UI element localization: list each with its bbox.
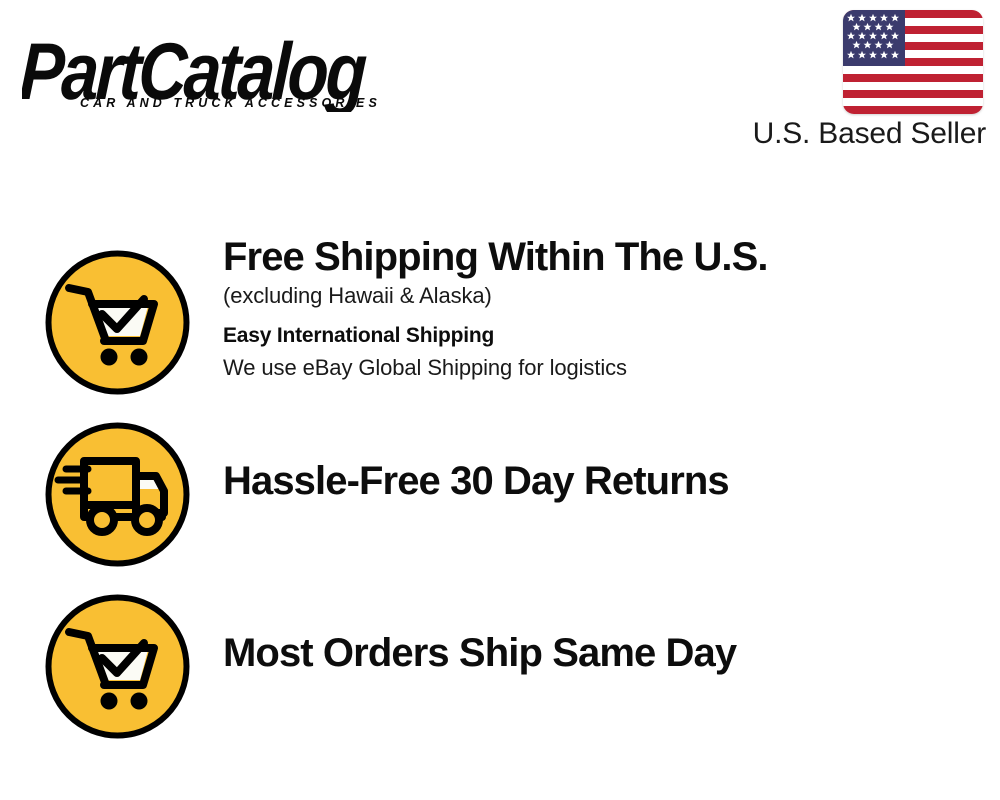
feature-headline: Free Shipping Within The U.S. — [223, 234, 983, 280]
feature-subhead: Easy International Shipping — [223, 320, 983, 352]
feature-row: Most Orders Ship Same Day — [0, 574, 1000, 746]
brand-tagline: CAR AND TRUCK ACCESSORIES — [80, 96, 381, 110]
us-flag-icon — [843, 10, 983, 114]
feature-row: Hassle-Free 30 Day Returns — [0, 402, 1000, 574]
us-based-seller-label: U.S. Based Seller — [753, 117, 986, 151]
shopping-cart-check-icon — [44, 593, 191, 740]
shopping-cart-check-icon — [44, 249, 191, 396]
feature-headline: Hassle-Free 30 Day Returns — [223, 458, 983, 504]
feature-subline-2: We use eBay Global Shipping for logistic… — [223, 352, 983, 384]
delivery-truck-icon — [44, 421, 191, 568]
brand-logo[interactable]: PartCatalog CAR AND TRUCK ACCESSORIES — [22, 22, 492, 112]
feature-subline: (excluding Hawaii & Alaska) — [223, 280, 983, 312]
page-header: PartCatalog CAR AND TRUCK ACCESSORIES — [0, 0, 1000, 170]
feature-text: Most Orders Ship Same Day — [223, 630, 983, 676]
feature-text: Free Shipping Within The U.S. (excluding… — [223, 234, 983, 384]
feature-row: Free Shipping Within The U.S. (excluding… — [0, 230, 1000, 402]
feature-text: Hassle-Free 30 Day Returns — [223, 458, 983, 504]
feature-headline: Most Orders Ship Same Day — [223, 630, 983, 676]
